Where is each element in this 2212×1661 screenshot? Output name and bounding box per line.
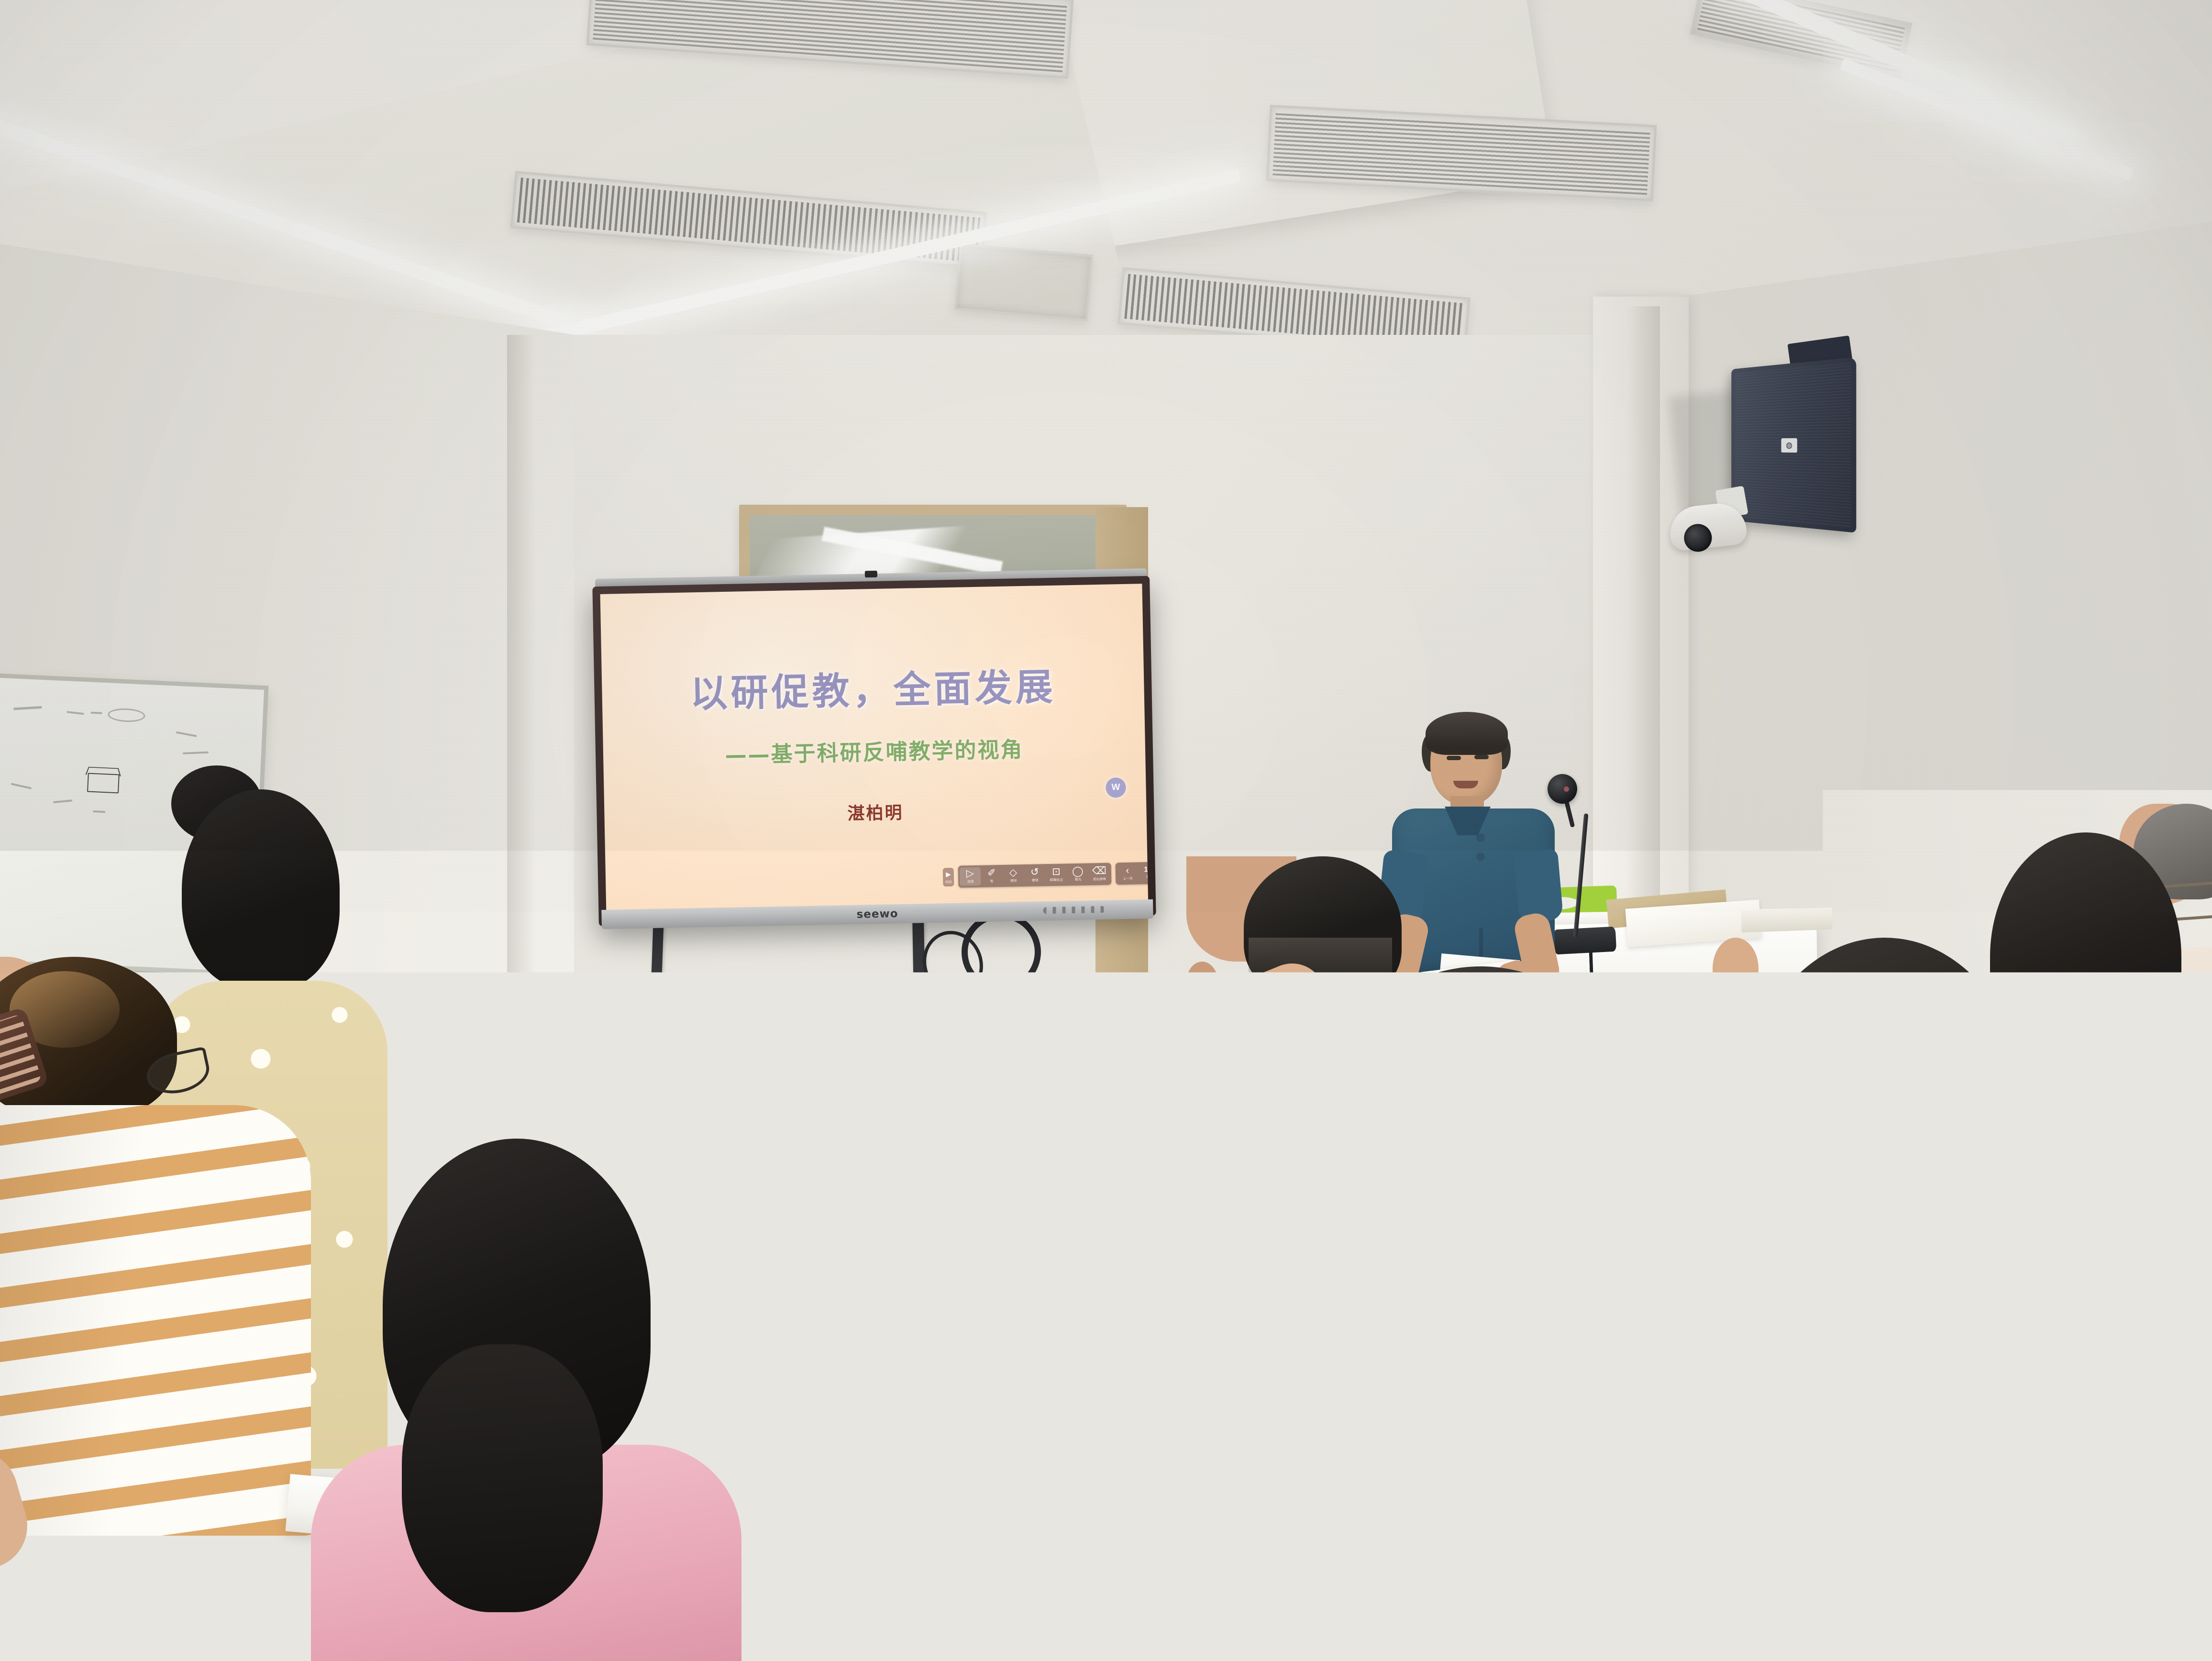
stand-post (648, 916, 664, 1079)
undo-icon: ↺ (1030, 867, 1039, 877)
ceiling-access-panel (954, 243, 1093, 321)
undo-tool-button[interactable]: ↺ 撤销 (1024, 866, 1046, 885)
previous-slide-label: 上一页 (1123, 876, 1133, 881)
attendee-pink-top (364, 1139, 756, 1661)
chevron-right-icon: ▸ (946, 869, 951, 879)
previous-slide-button[interactable]: ‹ 上一页 (1117, 864, 1139, 883)
bottle-sticker-icon (969, 1130, 983, 1155)
toolbar-collapse-label: 收起 (945, 879, 952, 884)
toolbar-tools-group[interactable]: ▷ 选择 ✐ 笔 ◇ 擦除 ↺ 撤销 (958, 863, 1112, 888)
presenter-mouth (1453, 781, 1478, 788)
exit-show-button[interactable]: ⌫ 退出放映 (1089, 865, 1110, 884)
water-bottle[interactable] (957, 1100, 994, 1191)
select-tool-label: 选择 (967, 879, 973, 884)
eraser-icon: ◇ (1009, 868, 1018, 877)
glass-ring (1077, 1460, 1124, 1468)
slide-author: 湛柏明 (604, 794, 1147, 830)
interactive-display[interactable]: 以研促教，全面发展 ——基于科研反哺教学的视角 湛柏明 W ▸ 收起 ▷ 选择 (592, 576, 1156, 926)
attendee-striped-blue (1244, 966, 1722, 1661)
spotlight-tool-button[interactable]: ◯ 聚光 (1067, 865, 1089, 884)
eraser-tool-label: 擦除 (1010, 878, 1017, 883)
classroom-chair[interactable] (697, 1031, 809, 1107)
mouse-logo-icon (973, 1207, 985, 1219)
attendee-hair (0, 957, 177, 1119)
smartphone[interactable] (1045, 1525, 1148, 1661)
annotate-tool-button[interactable]: ⊡ 屏幕批注 (1046, 865, 1067, 884)
classroom-scene: ◍ 以研促教，全面发展 ——基于科研反哺教学的视角 湛柏明 W (0, 0, 2212, 1661)
podium-book (1741, 908, 1832, 933)
select-tool-button[interactable]: ▷ 选择 (960, 867, 981, 886)
spotlight-icon: ◯ (1072, 867, 1084, 876)
glass-lid[interactable] (1072, 1437, 1128, 1457)
annotate-tool-label: 屏幕批注 (1050, 877, 1063, 883)
toolbar-nav-group[interactable]: ‹ 上一页 1/8 页码 › 下一页 (1116, 862, 1149, 885)
toolbar-collapse-handle[interactable]: ▸ 收起 (943, 867, 954, 886)
presentation-toolbar[interactable]: ▸ 收起 ▷ 选择 ✐ 笔 ◇ (943, 862, 1148, 888)
attendee-ear (1186, 962, 1218, 1003)
pen-icon: ✐ (987, 868, 996, 878)
slide-subtitle: ——基于科研反哺教学的视角 (603, 730, 1145, 771)
undo-tool-label: 撤销 (1031, 878, 1038, 883)
wall-corner-shadow (507, 335, 536, 1196)
exit-show-label: 退出放映 (1093, 876, 1106, 882)
chevron-left-icon: ‹ (1126, 866, 1129, 875)
attendee-grey-top (1713, 938, 2114, 1660)
display-camera-icon (864, 571, 877, 577)
drinking-glass[interactable] (1074, 1450, 1127, 1500)
presentation-screen[interactable]: 以研促教，全面发展 ——基于科研反哺教学的视角 湛柏明 W ▸ 收起 ▷ 选择 (600, 584, 1149, 911)
eraser-tool-button[interactable]: ◇ 擦除 (1003, 866, 1024, 885)
cursor-icon: ▷ (966, 869, 974, 878)
speaker-brand-badge: ◍ (1781, 438, 1797, 453)
screen-annotate-icon: ⊡ (1052, 867, 1061, 877)
page-label: 页码 (1146, 874, 1148, 879)
fabric-fold (995, 1369, 1209, 1392)
presenter-hair (1426, 712, 1508, 755)
phone-screen[interactable] (1050, 1530, 1143, 1661)
fabric-fold (973, 1343, 1222, 1352)
display-bezel: 以研促教，全面发展 ——基于科研反哺教学的视角 湛柏明 W ▸ 收起 ▷ 选择 (592, 576, 1156, 926)
spotlight-tool-label: 聚光 (1074, 877, 1081, 882)
attendee-hand (1231, 953, 1343, 1065)
wall-speaker-icon: ◍ (1731, 357, 1856, 533)
hair-highlight (1392, 995, 1583, 1148)
hair-tie-icon (1856, 1196, 1909, 1216)
whiteboard-sketch-icon (87, 773, 120, 793)
attendee-ponytail (1784, 1177, 1995, 1445)
page-number: 1/8 (1144, 865, 1148, 874)
attendee-striped-shirt (0, 957, 321, 1531)
stand-clamp (817, 1009, 828, 1057)
slide-title: 以研促教，全面发展 (601, 655, 1144, 720)
exit-icon: ⌫ (1092, 866, 1106, 876)
seewo-brand-logo: seewo (856, 908, 898, 921)
display-indicator-lights (1043, 906, 1105, 914)
pen-tool-label: 笔 (990, 879, 994, 884)
attendee-ponytail (402, 1344, 603, 1612)
torso-shading (0, 1105, 311, 1536)
page-indicator: 1/8 页码 (1139, 864, 1148, 883)
binder-clip-icon (1073, 1174, 1096, 1203)
attendee-hair (1292, 966, 1670, 1435)
pen-tool-button[interactable]: ✐ 笔 (981, 867, 1003, 886)
